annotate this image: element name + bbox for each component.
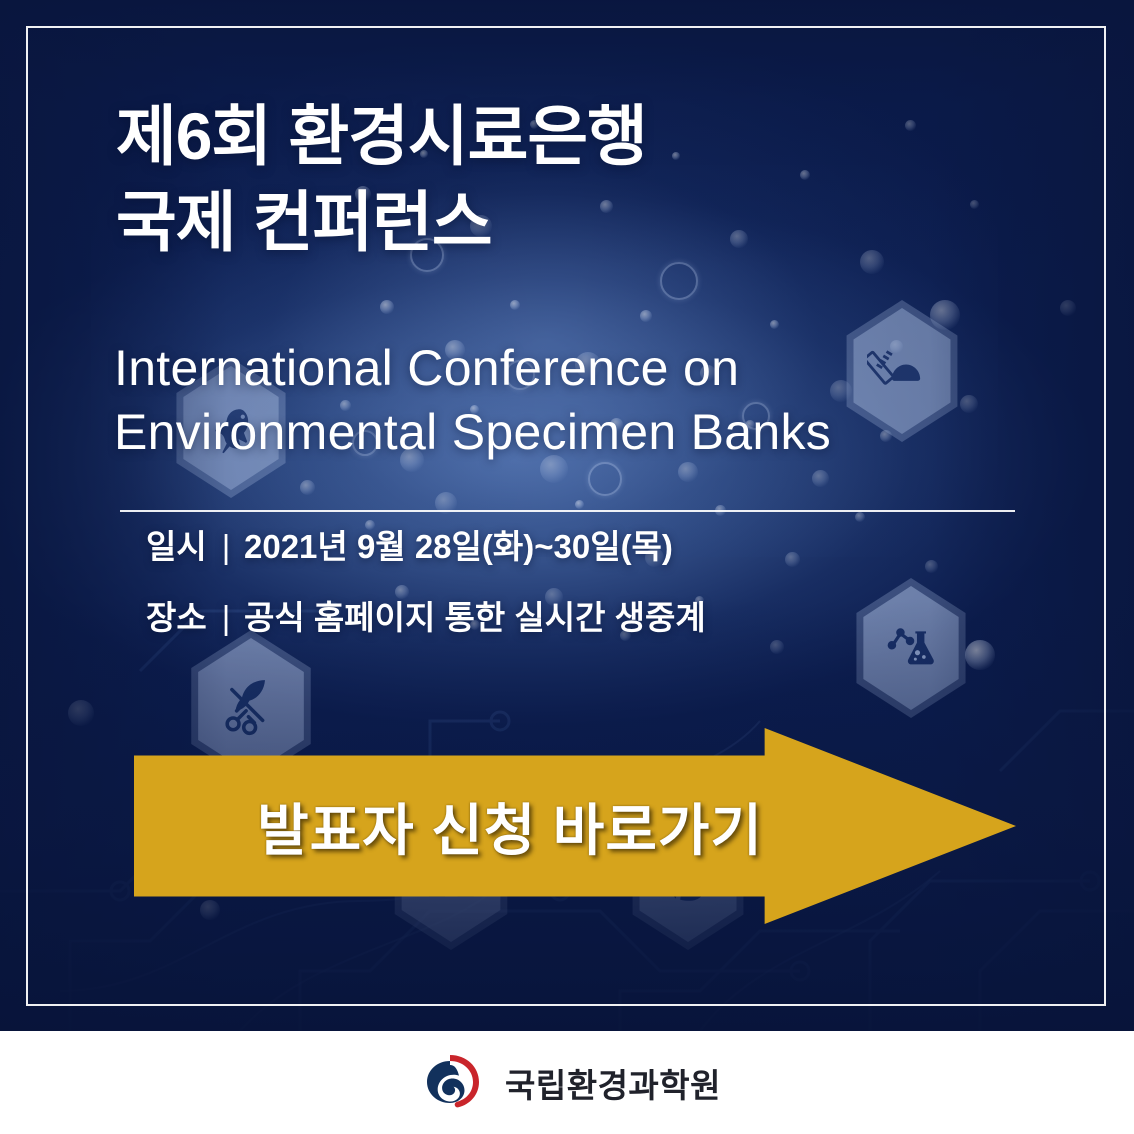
poster-content: 제6회 환경시료은행 국제 컨퍼런스 International Confere… [0, 0, 1134, 1031]
date-separator: | [208, 530, 244, 563]
organization-name: 국립환경과학원 [505, 1059, 721, 1107]
venue-value: 공식 홈페이지 통한 실시간 생중계 [244, 601, 706, 634]
title-divider [120, 510, 1015, 512]
detail-row-date: 일시 | 2021년 9월 28일(화)~30일(목) [146, 530, 1006, 563]
page-title-english: International Conference on Environmenta… [114, 336, 1014, 464]
venue-label: 장소 [146, 601, 208, 634]
detail-row-venue: 장소 | 공식 홈페이지 통한 실시간 생중계 [146, 601, 1006, 634]
taegeuk-government-mark-icon [413, 1051, 487, 1115]
speaker-application-arrow-button[interactable] [134, 728, 1016, 924]
poster-background: 제6회 환경시료은행 국제 컨퍼런스 International Confere… [0, 0, 1134, 1031]
event-details: 일시 | 2021년 9월 28일(화)~30일(목) 장소 | 공식 홈페이지… [146, 530, 1006, 672]
venue-separator: | [208, 601, 244, 634]
date-value: 2021년 9월 28일(화)~30일(목) [244, 530, 673, 563]
poster-footer: 국립환경과학원 [0, 1031, 1134, 1134]
conference-poster: 제6회 환경시료은행 국제 컨퍼런스 International Confere… [0, 0, 1134, 1134]
page-title-korean: 제6회 환경시료은행 국제 컨퍼런스 [116, 94, 976, 266]
date-label: 일시 [146, 530, 208, 563]
